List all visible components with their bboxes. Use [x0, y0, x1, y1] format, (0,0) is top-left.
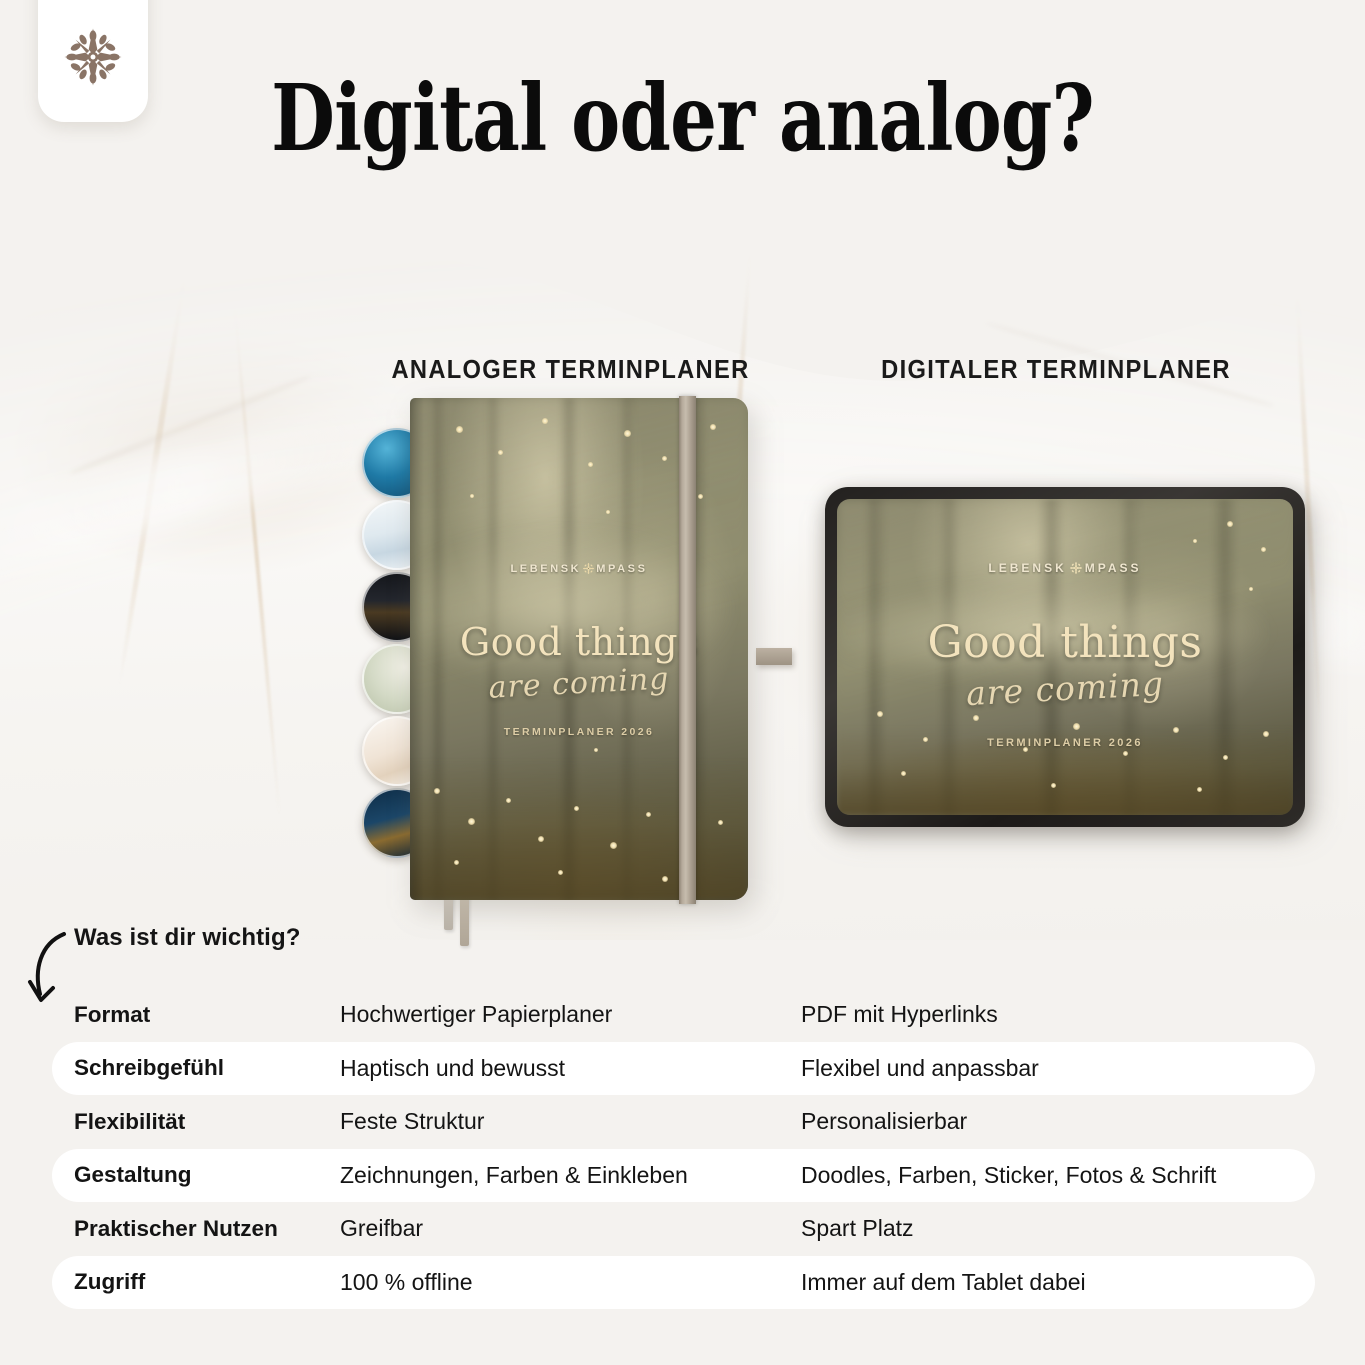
- elastic-closure-band: [679, 396, 696, 904]
- cover-footer: TERMINPLANER 2026: [410, 726, 748, 738]
- row-label: Gestaltung: [74, 1162, 192, 1188]
- tablet-bezel: LEBENSK: [825, 487, 1305, 827]
- row-label: Praktischer Nutzen: [74, 1216, 278, 1242]
- row-highlight-pill: [52, 1042, 1315, 1096]
- row-label: Format: [74, 1002, 150, 1028]
- analog-planner-notebook: LEBENSK: [410, 398, 748, 903]
- row-label: Zugriff: [74, 1269, 145, 1295]
- table-row: Format Hochwertiger Papierplaner PDF mit…: [0, 988, 1365, 1042]
- cover-headline: Good things: [410, 620, 748, 664]
- row-digital: Personalisierbar: [801, 1108, 967, 1135]
- poster-canvas: Digital oder analog? ANALOGER TERMINPLAN…: [0, 0, 1365, 1365]
- comparison-table: Format Hochwertiger Papierplaner PDF mit…: [0, 988, 1365, 1309]
- row-analog: Feste Struktur: [340, 1108, 484, 1135]
- table-row: Zugriff 100 % offline Immer auf dem Tabl…: [0, 1256, 1365, 1310]
- digital-planner-tablet: LEBENSK: [825, 487, 1305, 827]
- compass-rose-icon: [62, 26, 124, 88]
- cover-subline: are coming: [410, 657, 748, 710]
- compass-rose-icon: [1069, 561, 1083, 575]
- row-digital: PDF mit Hyperlinks: [801, 1001, 998, 1028]
- cover-brand-right: MPASS: [596, 563, 647, 575]
- table-row: Gestaltung Zeichnungen, Farben & Einkleb…: [0, 1149, 1365, 1203]
- row-highlight-pill: [52, 1256, 1315, 1310]
- tablet-brand-right: MPASS: [1085, 561, 1142, 575]
- cover-brand-left: LEBENSK: [510, 563, 581, 575]
- compass-rose-icon: [582, 562, 595, 575]
- row-label: Flexibilität: [74, 1109, 185, 1135]
- row-digital: Doodles, Farben, Sticker, Fotos & Schrif…: [801, 1162, 1216, 1189]
- column-header-analog: ANALOGER TERMINPLANER: [391, 356, 749, 385]
- row-label: Schreibgefühl: [74, 1055, 224, 1081]
- cover-brand-lockup: LEBENSK: [410, 562, 748, 575]
- row-digital: Flexibel und anpassbar: [801, 1055, 1039, 1082]
- table-row: Flexibilität Feste Struktur Personalisie…: [0, 1095, 1365, 1149]
- page-title: Digital oder analog?: [137, 72, 1229, 164]
- column-header-digital: DIGITALER TERMINPLANER: [881, 356, 1231, 385]
- row-analog: Hochwertiger Papierplaner: [340, 1001, 612, 1028]
- table-row: Schreibgefühl Haptisch und bewusst Flexi…: [0, 1042, 1365, 1096]
- row-digital: Immer auf dem Tablet dabei: [801, 1269, 1086, 1296]
- tablet-screen: LEBENSK: [837, 499, 1293, 815]
- row-analog: Greifbar: [340, 1215, 423, 1242]
- table-row: Praktischer Nutzen Greifbar Spart Platz: [0, 1202, 1365, 1256]
- notebook-cover: LEBENSK: [410, 398, 748, 900]
- tablet-brand-lockup: LEBENSK: [837, 561, 1293, 575]
- elastic-band-tab: [756, 648, 792, 665]
- tablet-footer: TERMINPLANER 2026: [837, 737, 1293, 749]
- question-heading: Was ist dir wichtig?: [74, 924, 300, 952]
- tablet-brand-left: LEBENSK: [988, 561, 1066, 575]
- row-analog: Zeichnungen, Farben & Einkleben: [340, 1162, 688, 1189]
- row-analog: Haptisch und bewusst: [340, 1055, 565, 1082]
- row-digital: Spart Platz: [801, 1215, 914, 1242]
- row-analog: 100 % offline: [340, 1269, 473, 1296]
- brand-logo-badge: [38, 0, 148, 122]
